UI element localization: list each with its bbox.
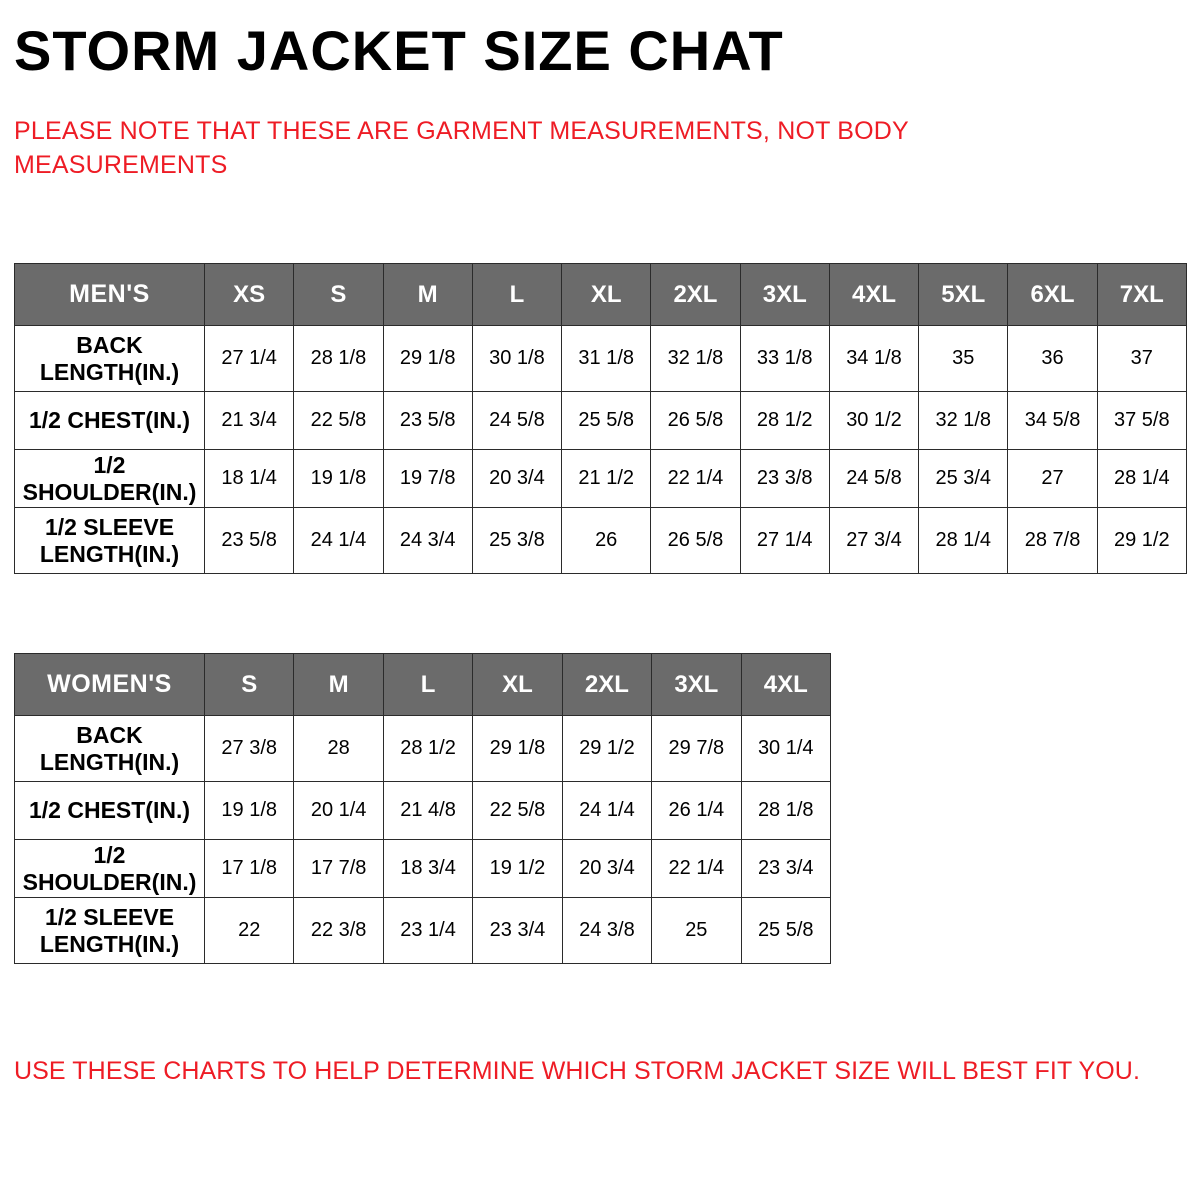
womens-cell-3-4: 24 3/8 (562, 898, 651, 964)
womens-size-header-s: S (205, 654, 294, 716)
womens-size-header-4xl: 4XL (741, 654, 830, 716)
mens-cell-3-6: 27 1/4 (740, 508, 829, 574)
womens-size-header-m: M (294, 654, 383, 716)
mens-size-header-3xl: 3XL (740, 264, 829, 326)
mens-cell-1-2: 23 5/8 (383, 392, 472, 450)
mens-size-header-s: S (294, 264, 383, 326)
mens-cell-3-2: 24 3/4 (383, 508, 472, 574)
womens-cell-2-2: 18 3/4 (383, 840, 472, 898)
mens-cell-0-7: 34 1/8 (829, 326, 918, 392)
mens-cell-0-4: 31 1/8 (562, 326, 651, 392)
table-row: BACK LENGTH(IN.)27 3/82828 1/229 1/829 1… (15, 716, 831, 782)
mens-cell-3-9: 28 7/8 (1008, 508, 1097, 574)
mens-cell-1-7: 30 1/2 (829, 392, 918, 450)
mens-cell-0-8: 35 (919, 326, 1008, 392)
garment-measurement-note: PLEASE NOTE THAT THESE ARE GARMENT MEASU… (14, 115, 1014, 183)
womens-cell-3-3: 23 3/4 (473, 898, 562, 964)
mens-cell-0-9: 36 (1008, 326, 1097, 392)
mens-size-header-5xl: 5XL (919, 264, 1008, 326)
womens-cell-1-0: 19 1/8 (205, 782, 294, 840)
womens-cell-2-3: 19 1/2 (473, 840, 562, 898)
womens-table-head: WOMEN'SSMLXL2XL3XL4XL (15, 654, 831, 716)
mens-cell-3-1: 24 1/4 (294, 508, 383, 574)
mens-table-head: MEN'SXSSMLXL2XL3XL4XL5XL6XL7XL (15, 264, 1187, 326)
mens-cell-0-3: 30 1/8 (472, 326, 561, 392)
mens-size-header-l: L (472, 264, 561, 326)
mens-table-corner-label: MEN'S (15, 264, 205, 326)
mens-cell-3-0: 23 5/8 (205, 508, 294, 574)
womens-cell-0-6: 30 1/4 (741, 716, 830, 782)
mens-size-header-xl: XL (562, 264, 651, 326)
mens-cell-2-2: 19 7/8 (383, 450, 472, 508)
mens-size-table: MEN'SXSSMLXL2XL3XL4XL5XL6XL7XL BACK LENG… (14, 263, 1187, 574)
mens-cell-1-4: 25 5/8 (562, 392, 651, 450)
womens-cell-3-1: 22 3/8 (294, 898, 383, 964)
mens-cell-3-3: 25 3/8 (472, 508, 561, 574)
mens-cell-1-6: 28 1/2 (740, 392, 829, 450)
table-row: 1/2 SLEEVE LENGTH(IN.)2222 3/823 1/423 3… (15, 898, 831, 964)
mens-row-label-1: 1/2 CHEST(IN.) (15, 392, 205, 450)
table-row: 1/2 CHEST(IN.)21 3/422 5/823 5/824 5/825… (15, 392, 1187, 450)
mens-size-header-2xl: 2XL (651, 264, 740, 326)
womens-cell-0-5: 29 7/8 (652, 716, 741, 782)
mens-cell-3-4: 26 (562, 508, 651, 574)
womens-cell-2-5: 22 1/4 (652, 840, 741, 898)
womens-cell-1-1: 20 1/4 (294, 782, 383, 840)
mens-cell-1-1: 22 5/8 (294, 392, 383, 450)
mens-header-row: MEN'SXSSMLXL2XL3XL4XL5XL6XL7XL (15, 264, 1187, 326)
womens-header-row: WOMEN'SSMLXL2XL3XL4XL (15, 654, 831, 716)
womens-cell-0-3: 29 1/8 (473, 716, 562, 782)
womens-cell-0-2: 28 1/2 (383, 716, 472, 782)
mens-row-label-0: BACK LENGTH(IN.) (15, 326, 205, 392)
mens-size-header-4xl: 4XL (829, 264, 918, 326)
table-row: BACK LENGTH(IN.)27 1/428 1/829 1/830 1/8… (15, 326, 1187, 392)
womens-row-label-0: BACK LENGTH(IN.) (15, 716, 205, 782)
mens-cell-2-10: 28 1/4 (1097, 450, 1186, 508)
womens-size-table: WOMEN'SSMLXL2XL3XL4XL BACK LENGTH(IN.)27… (14, 653, 831, 964)
womens-cell-2-0: 17 1/8 (205, 840, 294, 898)
mens-cell-1-5: 26 5/8 (651, 392, 740, 450)
table-row: 1/2 SHOULDER(IN.)17 1/817 7/818 3/419 1/… (15, 840, 831, 898)
table-row: 1/2 SLEEVE LENGTH(IN.)23 5/824 1/424 3/4… (15, 508, 1187, 574)
mens-cell-2-6: 23 3/8 (740, 450, 829, 508)
womens-cell-1-4: 24 1/4 (562, 782, 651, 840)
mens-cell-0-2: 29 1/8 (383, 326, 472, 392)
size-chart-page: STORM JACKET SIZE CHAT PLEASE NOTE THAT … (0, 0, 1200, 1200)
mens-cell-2-7: 24 5/8 (829, 450, 918, 508)
mens-cell-2-5: 22 1/4 (651, 450, 740, 508)
womens-cell-1-3: 22 5/8 (473, 782, 562, 840)
womens-table-corner-label: WOMEN'S (15, 654, 205, 716)
table-row: 1/2 CHEST(IN.)19 1/820 1/421 4/822 5/824… (15, 782, 831, 840)
mens-cell-3-7: 27 3/4 (829, 508, 918, 574)
mens-cell-1-9: 34 5/8 (1008, 392, 1097, 450)
womens-cell-2-6: 23 3/4 (741, 840, 830, 898)
mens-row-label-3: 1/2 SLEEVE LENGTH(IN.) (15, 508, 205, 574)
womens-row-label-1: 1/2 CHEST(IN.) (15, 782, 205, 840)
mens-cell-1-3: 24 5/8 (472, 392, 561, 450)
mens-cell-0-0: 27 1/4 (205, 326, 294, 392)
mens-cell-1-0: 21 3/4 (205, 392, 294, 450)
womens-cell-0-1: 28 (294, 716, 383, 782)
mens-cell-0-10: 37 (1097, 326, 1186, 392)
mens-cell-1-10: 37 5/8 (1097, 392, 1186, 450)
mens-cell-3-8: 28 1/4 (919, 508, 1008, 574)
mens-size-header-7xl: 7XL (1097, 264, 1186, 326)
womens-cell-2-4: 20 3/4 (562, 840, 651, 898)
womens-cell-1-5: 26 1/4 (652, 782, 741, 840)
womens-table-body: BACK LENGTH(IN.)27 3/82828 1/229 1/829 1… (15, 716, 831, 964)
table-row: 1/2 SHOULDER(IN.)18 1/419 1/819 7/820 3/… (15, 450, 1187, 508)
mens-cell-0-6: 33 1/8 (740, 326, 829, 392)
womens-cell-3-2: 23 1/4 (383, 898, 472, 964)
womens-row-label-2: 1/2 SHOULDER(IN.) (15, 840, 205, 898)
mens-cell-0-5: 32 1/8 (651, 326, 740, 392)
page-title: STORM JACKET SIZE CHAT (14, 22, 784, 81)
mens-cell-2-0: 18 1/4 (205, 450, 294, 508)
mens-table-body: BACK LENGTH(IN.)27 1/428 1/829 1/830 1/8… (15, 326, 1187, 574)
mens-cell-2-9: 27 (1008, 450, 1097, 508)
mens-size-header-6xl: 6XL (1008, 264, 1097, 326)
womens-cell-3-5: 25 (652, 898, 741, 964)
mens-size-header-xs: XS (205, 264, 294, 326)
womens-cell-1-2: 21 4/8 (383, 782, 472, 840)
womens-cell-1-6: 28 1/8 (741, 782, 830, 840)
mens-size-header-m: M (383, 264, 472, 326)
womens-size-header-3xl: 3XL (652, 654, 741, 716)
womens-cell-0-4: 29 1/2 (562, 716, 651, 782)
footer-help-note: USE THESE CHARTS TO HELP DETERMINE WHICH… (14, 1057, 1174, 1086)
womens-cell-3-6: 25 5/8 (741, 898, 830, 964)
mens-cell-2-8: 25 3/4 (919, 450, 1008, 508)
womens-cell-3-0: 22 (205, 898, 294, 964)
mens-cell-2-1: 19 1/8 (294, 450, 383, 508)
womens-size-header-l: L (383, 654, 472, 716)
womens-cell-0-0: 27 3/8 (205, 716, 294, 782)
mens-row-label-2: 1/2 SHOULDER(IN.) (15, 450, 205, 508)
mens-cell-3-10: 29 1/2 (1097, 508, 1186, 574)
mens-cell-0-1: 28 1/8 (294, 326, 383, 392)
womens-cell-2-1: 17 7/8 (294, 840, 383, 898)
mens-cell-3-5: 26 5/8 (651, 508, 740, 574)
mens-cell-2-3: 20 3/4 (472, 450, 561, 508)
womens-row-label-3: 1/2 SLEEVE LENGTH(IN.) (15, 898, 205, 964)
mens-cell-2-4: 21 1/2 (562, 450, 651, 508)
womens-size-header-xl: XL (473, 654, 562, 716)
womens-size-header-2xl: 2XL (562, 654, 651, 716)
mens-cell-1-8: 32 1/8 (919, 392, 1008, 450)
